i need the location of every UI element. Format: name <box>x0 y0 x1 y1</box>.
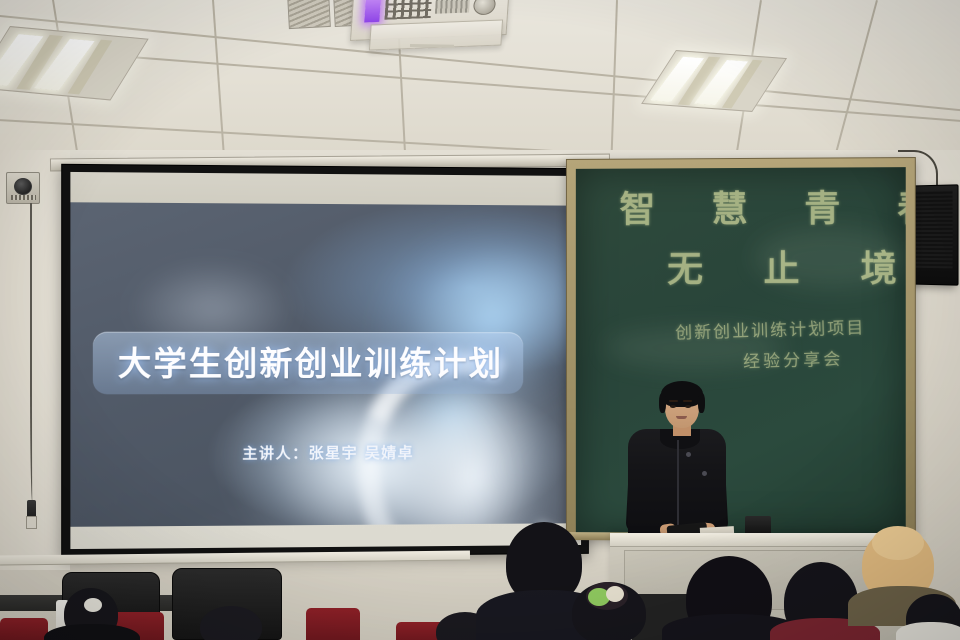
ceiling-vent <box>287 0 331 29</box>
presenter-jacket-zip <box>677 440 679 528</box>
speaker-grille <box>910 191 953 269</box>
hair-accessory <box>606 586 624 602</box>
projector-led-indicator <box>364 0 381 22</box>
camera-lens-icon <box>14 178 32 195</box>
hanging-cable <box>30 203 36 503</box>
cable-plug <box>27 500 36 522</box>
presenter-brow-right <box>683 400 692 402</box>
ceiling-light-left <box>0 26 149 100</box>
auditorium-seat-3[interactable] <box>306 608 360 640</box>
presentation-slide: 大学生创新创业训练计划 主讲人：张星宇 吴婧卓 <box>70 202 581 527</box>
chalk-headline-line1: 智 慧 青 春 <box>619 179 905 232</box>
screen-surface: 大学生创新创业训练计划 主讲人：张星宇 吴婧卓 <box>70 172 581 549</box>
chalk-note-line2: 经验分享会 <box>743 345 844 373</box>
ceiling <box>0 0 960 172</box>
projector-vent <box>435 0 471 14</box>
projector-grille <box>384 0 432 20</box>
presenter-brow-left <box>669 400 678 402</box>
blackboard-surface: 智 慧 青 春 无 止 境 创新创业训练计划项目 经验分享会 <box>576 167 906 536</box>
head <box>200 606 262 640</box>
lectern-desktop <box>610 534 900 547</box>
classroom-scene: 大学生创新创业训练计划 主讲人：张星宇 吴婧卓 智 慧 青 春 无 止 境 创新… <box>0 0 960 640</box>
wall-camera <box>6 172 40 204</box>
projector-lens <box>473 0 496 15</box>
chalk-note-line1: 创新创业训练计划项目 <box>675 313 866 343</box>
projection-screen[interactable]: 大学生创新创业训练计划 主讲人：张星宇 吴婧卓 <box>61 164 589 558</box>
slide-subtitle: 主讲人：张星宇 吴婧卓 <box>70 441 581 464</box>
presenter-eye-right <box>685 405 691 408</box>
camera-grille <box>11 195 36 200</box>
presenter-eye-left <box>670 405 676 408</box>
ceiling-light-right <box>641 50 787 112</box>
hair-bun <box>872 526 924 560</box>
chalk-headline-line2: 无 止 境 <box>667 239 906 292</box>
presenter-hair <box>661 381 703 407</box>
shoulders <box>896 622 960 640</box>
slide-title: 大学生创新创业训练计划 <box>105 340 515 388</box>
presenter-jacket-button-2 <box>686 452 691 457</box>
blackboard: 智 慧 青 春 无 止 境 创新创业训练计划项目 经验分享会 <box>566 157 916 541</box>
presenter-mouth <box>676 416 687 419</box>
auditorium-seat-1[interactable] <box>0 618 48 640</box>
hair-clip <box>84 598 102 612</box>
cable-tag <box>26 516 37 529</box>
presenter-jacket-button-1 <box>702 471 707 476</box>
